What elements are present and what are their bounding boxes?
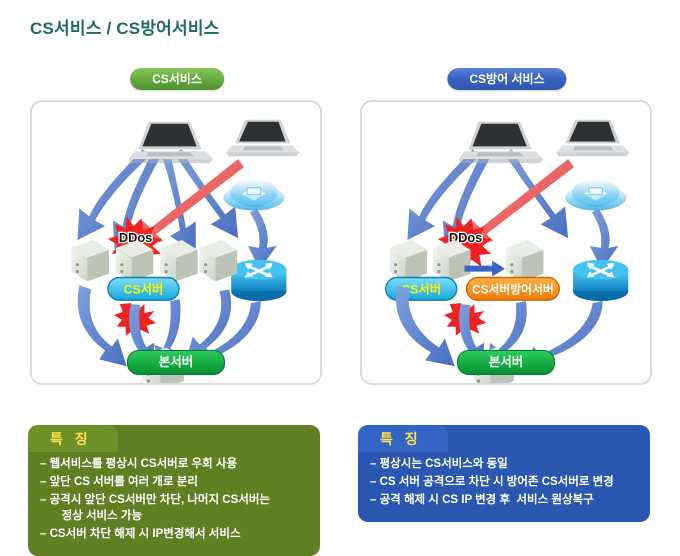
defense-server-icon (506, 240, 543, 281)
feature-bullet-list: – 평상시는 CS서비스와 동일 – CS 서버 공격으로 차단 시 방어존 C… (358, 456, 650, 508)
cloud-icon (565, 179, 626, 211)
feature-box-cs-defense-service: 특 징 – 평상시는 CS서비스와 동일 – CS 서버 공격으로 차단 시 방… (358, 425, 650, 522)
server-icon (390, 240, 427, 281)
feature-box-cs-service: 특 징 – 웹서비스를 평상시 CS서버로 우회 사용 – 앞단 CS 서버를 … (28, 425, 320, 556)
feature-bullet: – CS 서버 공격으로 차단 시 방어존 CS서버로 변경 (370, 474, 640, 490)
feature-bullet-list: – 웹서비스를 평상시 CS서버로 우회 사용 – 앞단 CS 서버를 여러 개… (28, 456, 320, 542)
laptop-icon (459, 122, 544, 163)
cs-defense-server-badge: CS서버방어서버 (467, 278, 560, 301)
failover-arrow (465, 261, 505, 277)
cloud-icon (223, 179, 284, 211)
cs-server-badge: CS서버 (108, 278, 179, 301)
panel-cs-service: CS서비스 (22, 60, 332, 550)
panel-header-cs-defense-service: CS방어 서비스 (447, 68, 566, 90)
page-title: CS서비스 / CS방어서비스 (30, 14, 220, 39)
feature-bullet: – 웹서비스를 평상시 CS서버로 우회 사용 (40, 456, 310, 472)
router-icon (573, 260, 628, 301)
feature-tab-label: 특 징 (358, 425, 448, 452)
feature-bullet: – 앞단 CS 서버를 여러 개로 분리 (40, 474, 310, 490)
router-icon (231, 260, 286, 301)
laptop-icon (129, 122, 214, 163)
cs-server-badge-label: CS서버 (124, 281, 164, 296)
laptop-attacker-icon (556, 120, 629, 156)
diagram-cs-service: DDos (30, 100, 322, 385)
panel-header-cs-service: CS서비스 (130, 68, 224, 90)
server-icon (71, 240, 108, 281)
cs-defense-server-badge-label: CS서버방어서버 (472, 282, 554, 296)
feature-bullet: – CS서버 차단 해제 시 IP변경해서 서비스 (40, 526, 310, 542)
server-icon (200, 240, 237, 281)
panel-cs-defense-service: CS방어 서비스 (352, 60, 662, 550)
laptop-attacker-icon (226, 120, 299, 156)
main-server-badge: 본서버 (457, 350, 555, 375)
main-server-badge: 본서버 (127, 350, 225, 375)
diagram-cs-defense-service: DDos (360, 100, 652, 385)
feature-bullet: – 공격시 앞단 CS서버만 차단, 나머지 CS서버는 정상 서비스 가능 (40, 492, 310, 524)
feature-bullet: – 공격 해제 시 CS IP 변경 후 서비스 원상복구 (370, 492, 640, 508)
front-server-group (71, 240, 237, 281)
feature-bullet: – 평상시는 CS서비스와 동일 (370, 456, 640, 472)
feature-tab-label: 특 징 (28, 425, 118, 452)
